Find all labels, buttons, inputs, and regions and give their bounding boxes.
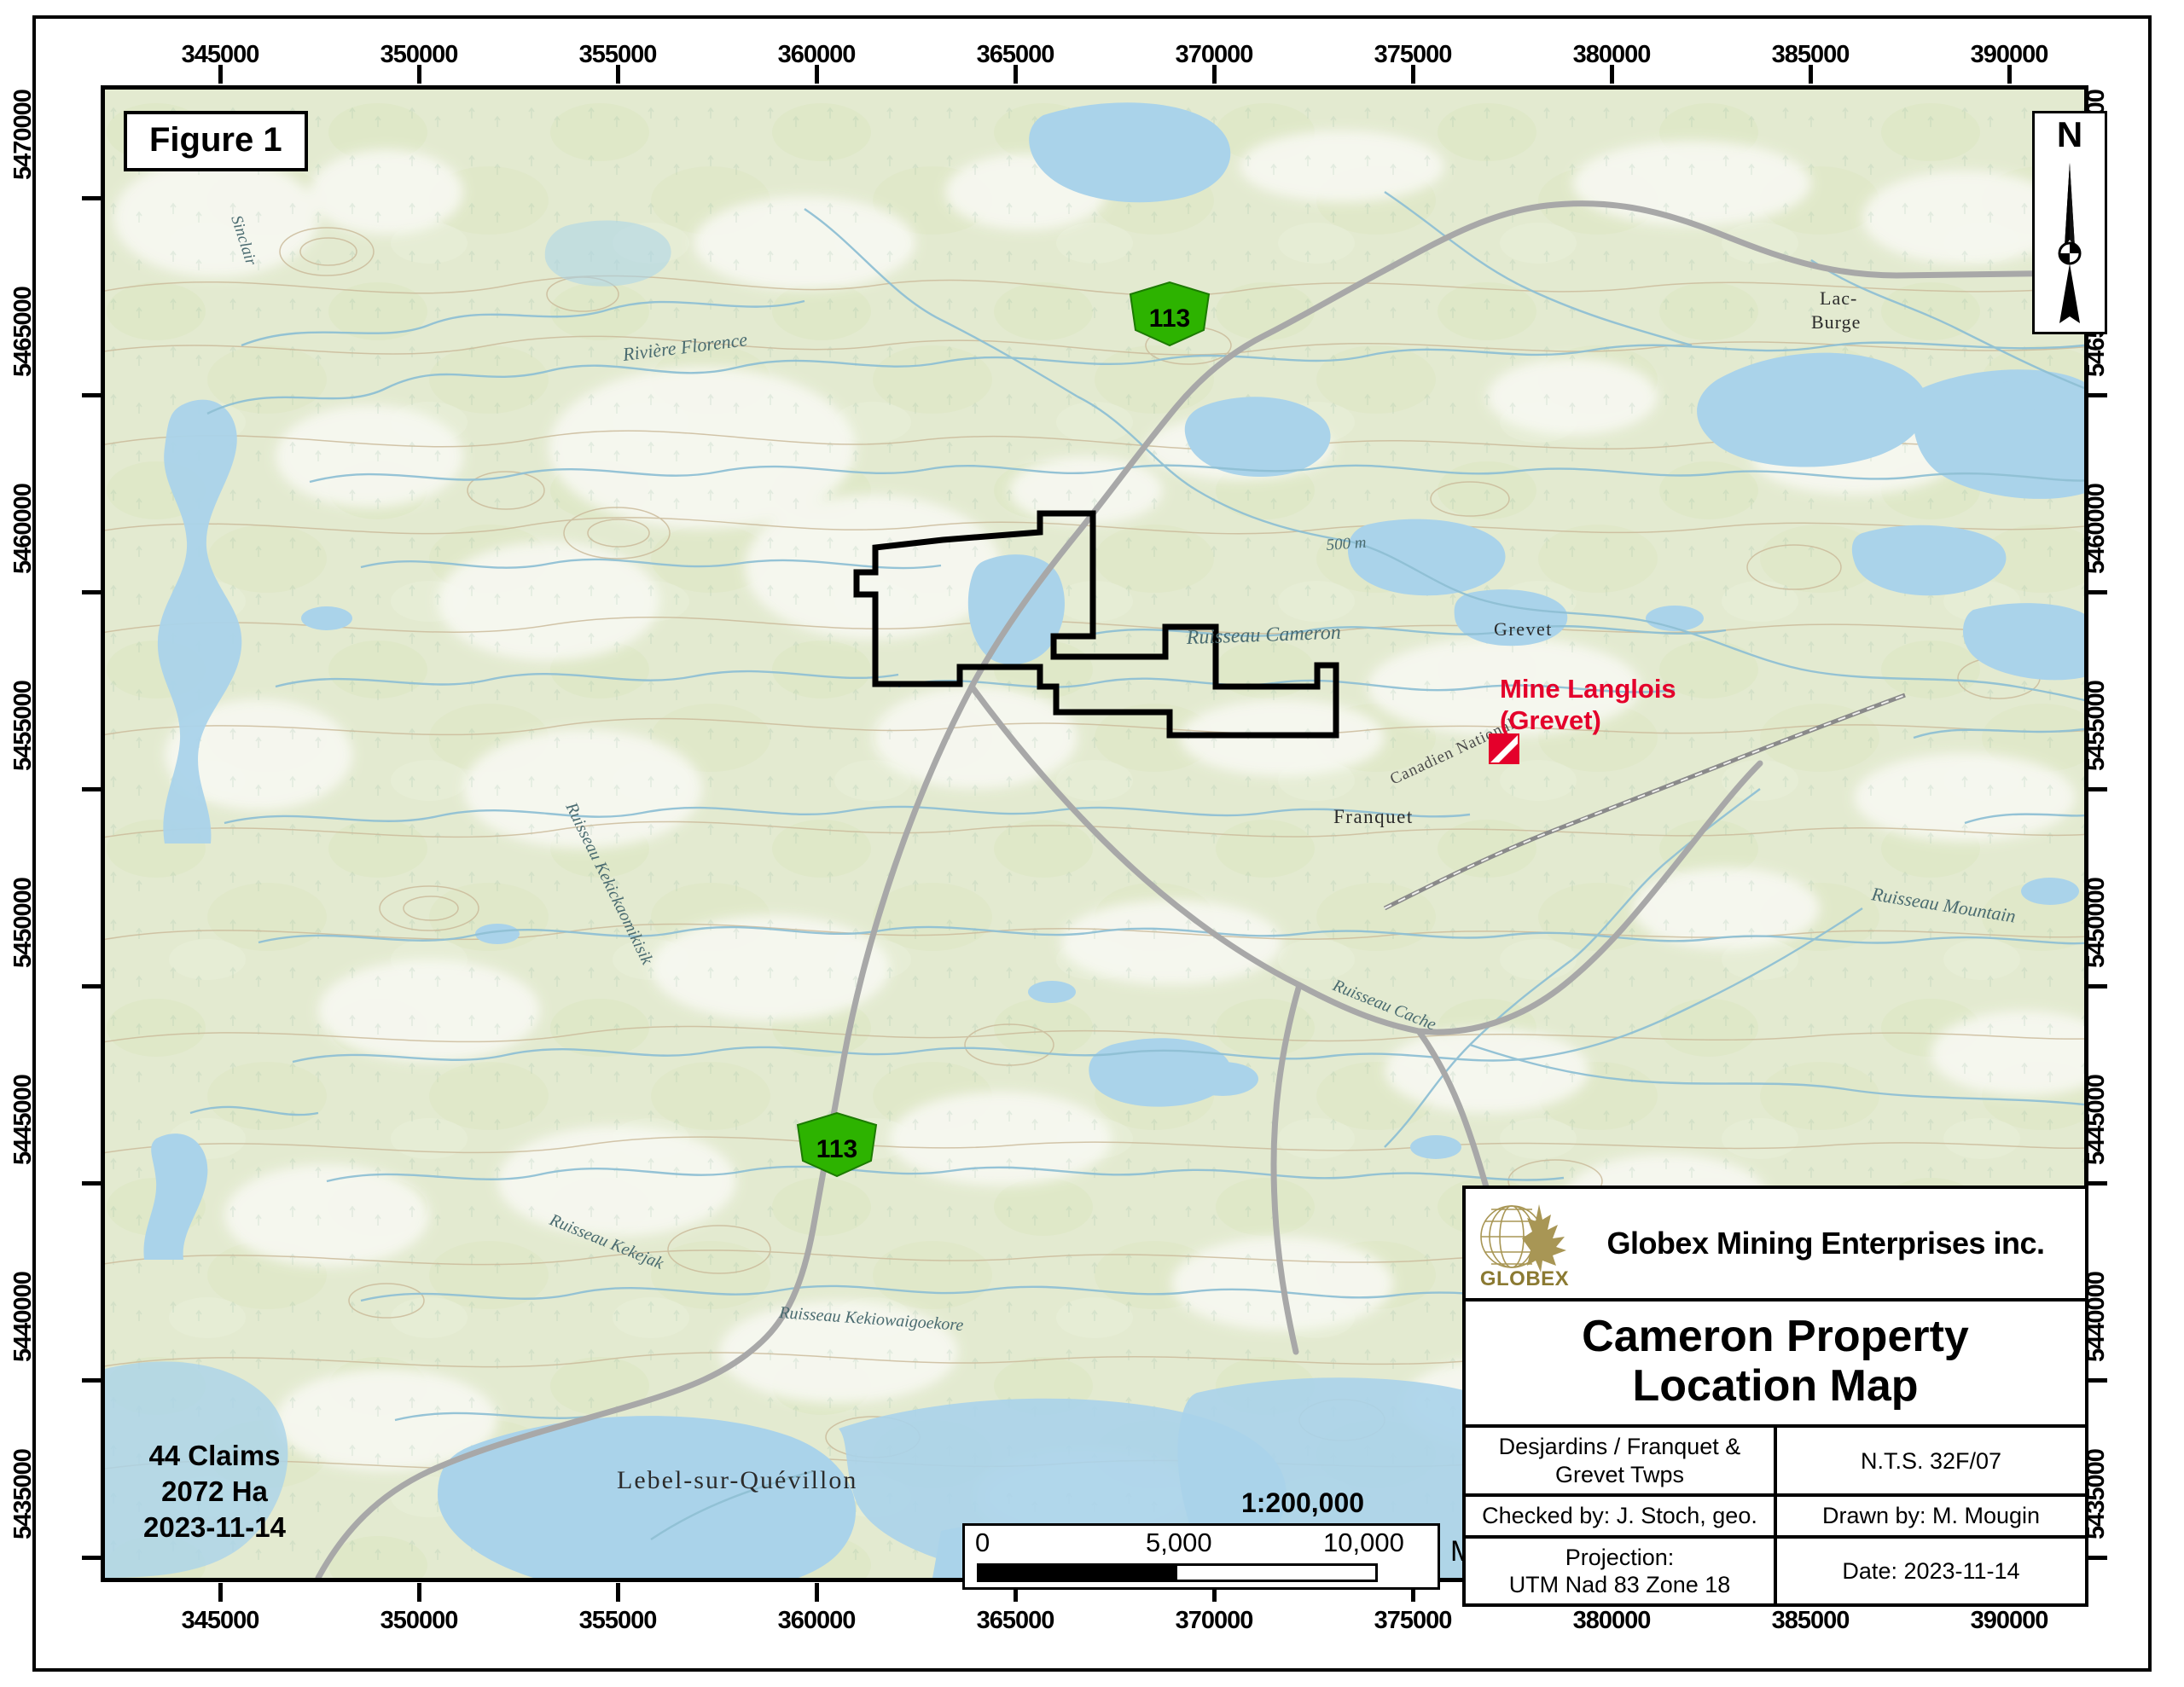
- scale-bar-graphic: [977, 1563, 1378, 1582]
- y-axis-label: 5445000: [2082, 1075, 2111, 1165]
- north-arrow: N: [2032, 111, 2107, 334]
- y-axis-label: 5435000: [9, 1449, 38, 1539]
- tick-left: [82, 1181, 101, 1186]
- globex-logo-wordmark: GLOBEX: [1474, 1267, 1575, 1291]
- claims-date: 2023-11-14: [143, 1510, 286, 1545]
- map-title-line1: Cameron Property: [1469, 1312, 2082, 1361]
- title-block-row-projection: Projection: UTM Nad 83 Zone 18 Date: 202…: [1466, 1539, 2085, 1604]
- tick-right: [2088, 984, 2107, 988]
- claims-count: 44 Claims: [143, 1438, 286, 1474]
- mine-shaft-symbol: [1489, 733, 1519, 764]
- scale-tick-labels: 0 5,000 10,000: [965, 1526, 1438, 1560]
- y-axis-label: 5470000: [9, 90, 38, 180]
- x-axis-label: 375000: [1374, 41, 1452, 69]
- y-axis-label: 5455000: [2082, 681, 2111, 771]
- scale-ratio-label: 1:200,000: [1162, 1487, 1443, 1519]
- y-axis-label: 5440000: [9, 1272, 38, 1362]
- scale-bar-filled-half: [979, 1566, 1177, 1580]
- title-block: GLOBEX Globex Mining Enterprises inc. Ca…: [1462, 1186, 2088, 1607]
- projection-value: UTM Nad 83 Zone 18: [1509, 1571, 1731, 1598]
- x-axis-label: 350000: [380, 41, 458, 69]
- tick-right: [2088, 393, 2107, 397]
- mine-name-line1: Mine Langlois: [1500, 674, 1676, 705]
- figure-number-box: Figure 1: [124, 111, 308, 171]
- claims-summary-note: 44 Claims 2072 Ha 2023-11-14: [143, 1438, 286, 1546]
- tick-bottom: [815, 1583, 819, 1602]
- x-axis-label: 365000: [977, 1607, 1054, 1635]
- mine-langlois-label: Mine Langlois (Grevet): [1500, 674, 1676, 736]
- label-franquet: Franquet: [1333, 806, 1414, 827]
- x-axis-label: 355000: [579, 41, 657, 69]
- title-block-row-townships: Desjardins / Franquet & Grevet Twps N.T.…: [1466, 1428, 2085, 1497]
- x-axis-label: 370000: [1176, 1607, 1253, 1635]
- date-cell: Date: 2023-11-14: [1774, 1539, 2085, 1604]
- label-grevet: Grevet: [1494, 618, 1553, 640]
- checked-by-cell: Checked by: J. Stoch, geo.: [1466, 1497, 1774, 1534]
- x-axis-label: 360000: [778, 1607, 856, 1635]
- nts-cell: N.T.S. 32F/07: [1774, 1428, 2085, 1493]
- label-lebel-sur-quevillon: Lebel-sur-Quévillon: [617, 1466, 857, 1494]
- svg-text:113: 113: [816, 1135, 857, 1163]
- tick-left: [82, 984, 101, 988]
- x-axis-label: 345000: [182, 1607, 259, 1635]
- svg-text:113: 113: [1149, 304, 1190, 333]
- x-axis-label: 355000: [579, 1607, 657, 1635]
- x-axis-label: 380000: [1573, 41, 1651, 69]
- x-axis-label: 390000: [1971, 41, 2048, 69]
- tick-left: [82, 1378, 101, 1383]
- north-letter-label: N: [2035, 117, 2105, 153]
- x-axis-label: 385000: [1772, 1607, 1850, 1635]
- x-axis-label: 360000: [778, 41, 856, 69]
- map-main-title: Cameron Property Location Map: [1466, 1301, 2085, 1428]
- y-axis-label: 5465000: [9, 287, 38, 377]
- x-axis-label: 350000: [380, 1607, 458, 1635]
- tick-bottom: [218, 1583, 223, 1602]
- company-name: Globex Mining Enterprises inc.: [1575, 1226, 2077, 1261]
- title-block-company-row: GLOBEX Globex Mining Enterprises inc.: [1466, 1189, 2085, 1301]
- tick-left: [82, 196, 101, 200]
- scale-bar-box: 0 5,000 10,000: [962, 1523, 1440, 1590]
- claims-area: 2072 Ha: [143, 1474, 286, 1510]
- y-axis-label: 5450000: [9, 878, 38, 968]
- y-axis-label: 5445000: [9, 1075, 38, 1165]
- map-title-line2: Location Map: [1469, 1361, 2082, 1411]
- tick-left: [82, 590, 101, 594]
- tick-right: [2088, 590, 2107, 594]
- x-axis-label: 385000: [1772, 41, 1850, 69]
- tick-left: [82, 393, 101, 397]
- y-axis-label: 5460000: [2082, 484, 2111, 574]
- y-axis-label: 5450000: [2082, 878, 2111, 968]
- mine-name-line2: (Grevet): [1500, 705, 1676, 737]
- x-axis-label: 390000: [1971, 1607, 2048, 1635]
- tick-bottom: [616, 1583, 620, 1602]
- scale-tick-10000: 10,000: [1323, 1528, 1404, 1558]
- tick-right: [2088, 1378, 2107, 1383]
- globex-logo-icon: GLOBEX: [1474, 1197, 1575, 1290]
- tick-right: [2088, 1556, 2107, 1560]
- x-axis-label: 345000: [182, 41, 259, 69]
- y-axis-label: 5460000: [9, 484, 38, 574]
- projection-label: Projection:: [1565, 1544, 1675, 1571]
- north-needle-icon: [2035, 158, 2105, 328]
- tick-left: [82, 1556, 101, 1560]
- map-figure-page: Rivière Florence Ruisseau Cameron Ruisse…: [0, 0, 2184, 1687]
- townships-cell: Desjardins / Franquet & Grevet Twps: [1466, 1428, 1774, 1493]
- x-axis-label: 370000: [1176, 41, 1253, 69]
- scale-tick-5000: 5,000: [1146, 1528, 1212, 1558]
- tick-left: [82, 787, 101, 791]
- x-axis-label: 365000: [977, 41, 1054, 69]
- svg-text:Burge: Burge: [1811, 311, 1861, 333]
- figure-number-label: Figure 1: [149, 121, 282, 159]
- projection-cell: Projection: UTM Nad 83 Zone 18: [1466, 1539, 1774, 1604]
- label-lac-sinclair: 500 m: [1326, 534, 1367, 554]
- title-block-row-authors: Checked by: J. Stoch, geo. Drawn by: M. …: [1466, 1497, 2085, 1538]
- label-lac-berge: Lac-: [1820, 287, 1857, 309]
- x-axis-label: 375000: [1374, 1607, 1452, 1635]
- tick-right: [2088, 1181, 2107, 1186]
- tick-bottom: [417, 1583, 421, 1602]
- tick-right: [2088, 787, 2107, 791]
- x-axis-label: 380000: [1573, 1607, 1651, 1635]
- y-axis-label: 5455000: [9, 681, 38, 771]
- drawn-by-cell: Drawn by: M. Mougin: [1774, 1497, 2085, 1534]
- scale-tick-0: 0: [975, 1528, 990, 1558]
